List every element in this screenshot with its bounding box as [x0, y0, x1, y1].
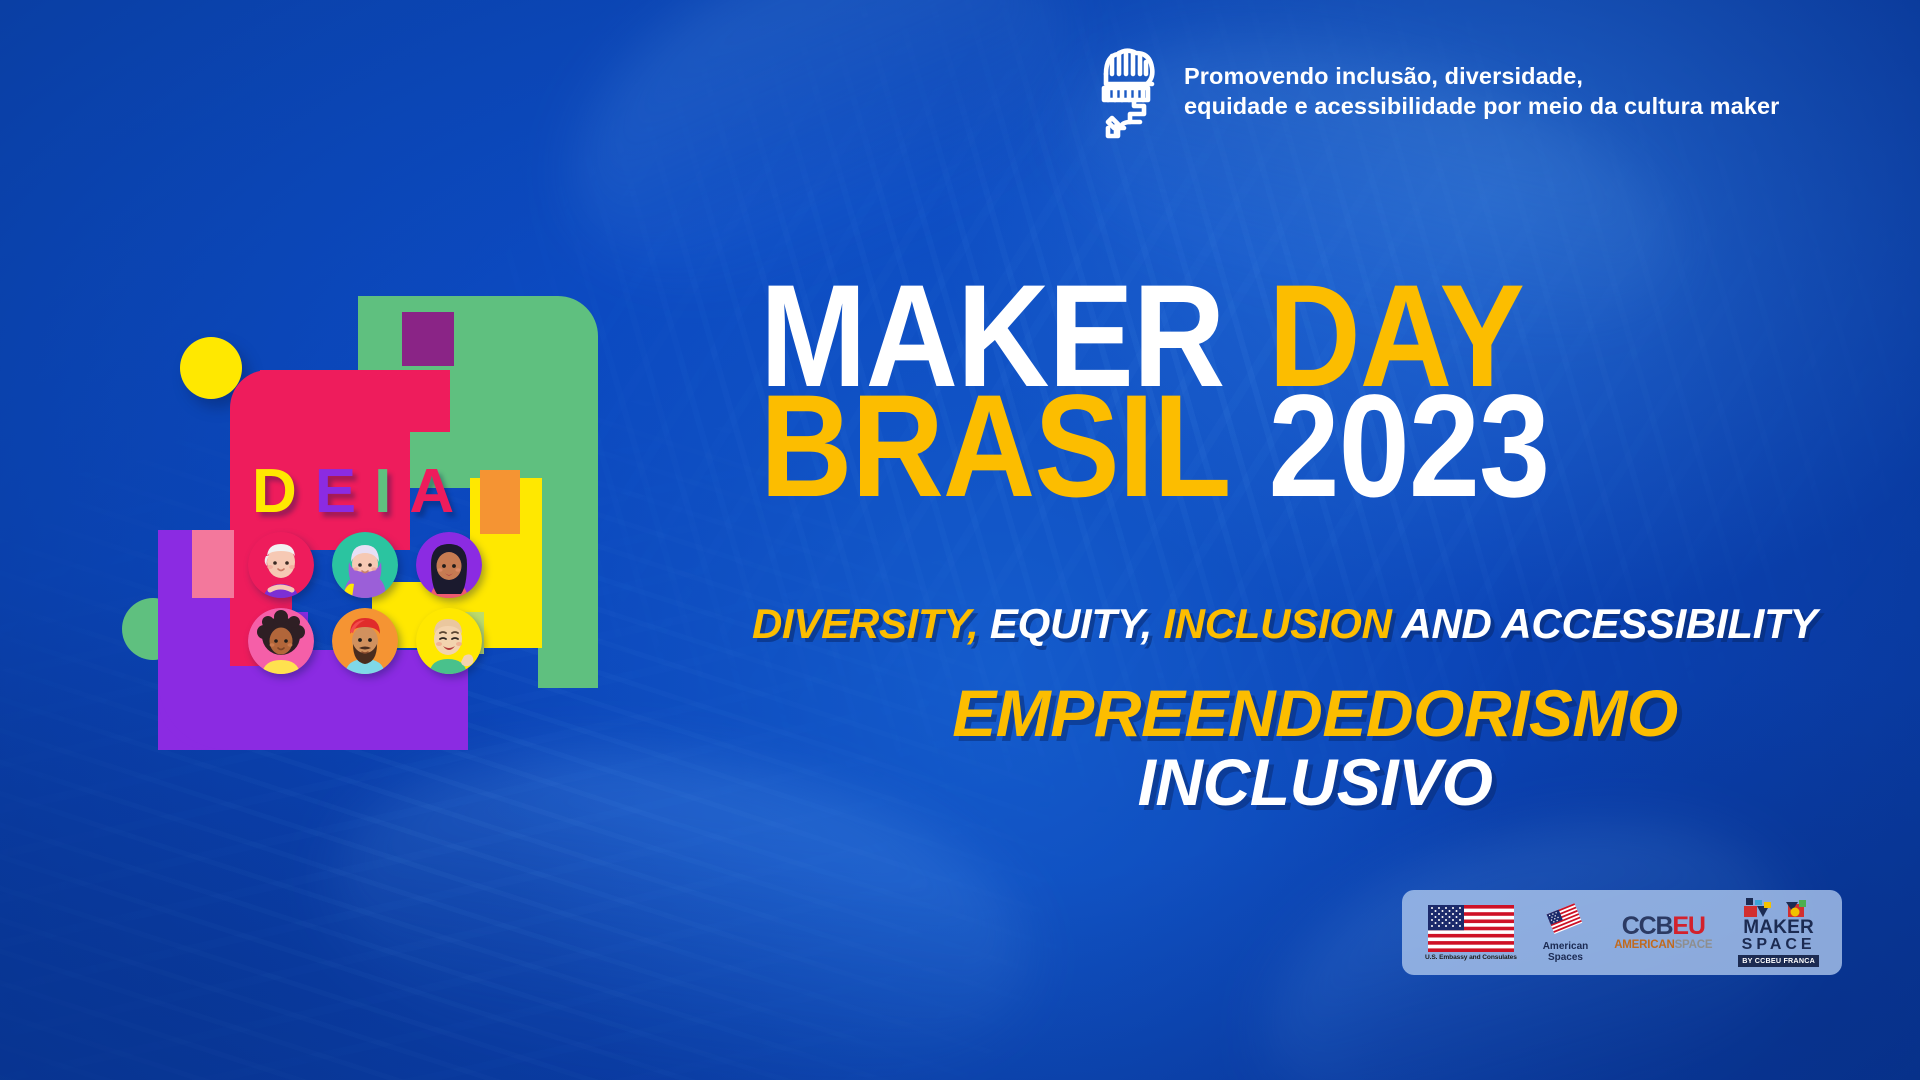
sponsor-american-spaces: American Spaces [1543, 902, 1589, 964]
diversity-avatar-grid [248, 532, 482, 674]
deia-letter-d: D [252, 463, 299, 520]
pale-pink-square-accent [192, 530, 234, 598]
banner-canvas: Promovendo inclusão, diversidade, equida… [0, 0, 1920, 1080]
deia-letter-a: A [409, 463, 456, 520]
subheadline-part-inclusion: INCLUSION [1163, 600, 1391, 647]
american-spaces-flag-icon [1543, 902, 1587, 938]
us-embassy-caption: U.S. Embassy and Consulates [1425, 954, 1517, 961]
yellow-circle-accent [180, 337, 242, 399]
ccbeu-part-ccb: CCB [1622, 912, 1673, 940]
american-spaces-line-2: Spaces [1543, 952, 1589, 964]
ccbeu-part-space: SPACE [1675, 939, 1713, 951]
man-waving-avatar [416, 608, 482, 674]
dark-purple-square-accent [402, 312, 454, 366]
ccbeu-subwordmark: AMERICANSPACE [1614, 940, 1712, 952]
orange-square-accent [480, 470, 520, 534]
deia-letter-e: E [315, 463, 358, 520]
event-theme: EMPREENDEDORISMO INCLUSIVO [760, 680, 1870, 817]
subheadline: DIVERSITY, EQUITY, INCLUSION AND ACCESSI… [752, 600, 1882, 648]
us-flag-icon [1428, 905, 1514, 952]
deia-letters: D E I A [252, 458, 482, 520]
theme-line-1: EMPREENDEDORISMO [760, 680, 1870, 747]
woman-hijab-avatar [332, 532, 398, 598]
american-spaces-line-1: American [1543, 941, 1589, 953]
sponsor-ccbeu-american-space: CCBEU AMERICANSPACE [1614, 914, 1712, 952]
tagline: Promovendo inclusão, diversidade, equida… [1096, 44, 1779, 140]
maker-space-deco-icon [1742, 898, 1816, 918]
maker-space-byline: BY CCBEU FRANCA [1738, 955, 1819, 967]
sponsor-bar: U.S. Embassy and Consulates [1402, 890, 1842, 975]
deia-letter-i: I [374, 463, 393, 520]
deia-logo-mark: D E I A [140, 282, 600, 694]
subheadline-part-equity: EQUITY, [990, 600, 1152, 647]
headline-word-brasil: BRASIL [760, 374, 1230, 520]
elderly-person-avatar [248, 532, 314, 598]
pink-bracket-extension [352, 370, 450, 432]
green-bracket-leg [538, 388, 598, 688]
sponsor-maker-space: MAKER SPACE BY CCBEU FRANCA [1738, 898, 1819, 967]
headline: MAKER DAY BRASIL 2023 [760, 282, 1870, 520]
subheadline-part-accessibility: AND ACCESSIBILITY [1401, 600, 1817, 647]
woman-afro-avatar [248, 608, 314, 674]
ccbeu-part-american: AMERICAN [1614, 939, 1674, 951]
ccbeu-part-eu: EU [1672, 912, 1704, 940]
woman-dark-hair-avatar [416, 532, 482, 598]
maker-space-word-space: SPACE [1742, 937, 1816, 953]
american-spaces-caption: American Spaces [1543, 941, 1589, 964]
tagline-text: Promovendo inclusão, diversidade, equida… [1184, 62, 1779, 122]
maker-space-word-maker: MAKER [1743, 919, 1814, 937]
headline-line-2: BRASIL 2023 [760, 392, 1870, 520]
ccbeu-wordmark: CCBEU [1622, 914, 1705, 939]
man-turban-beard-avatar [332, 608, 398, 674]
headline-word-2023: 2023 [1268, 374, 1549, 520]
subheadline-part-diversity: DIVERSITY, [752, 600, 979, 647]
brain-with-wrench-hand-icon [1096, 44, 1162, 140]
theme-line-2: INCLUSIVO [760, 749, 1870, 816]
sponsor-us-embassy: U.S. Embassy and Consulates [1425, 905, 1517, 961]
